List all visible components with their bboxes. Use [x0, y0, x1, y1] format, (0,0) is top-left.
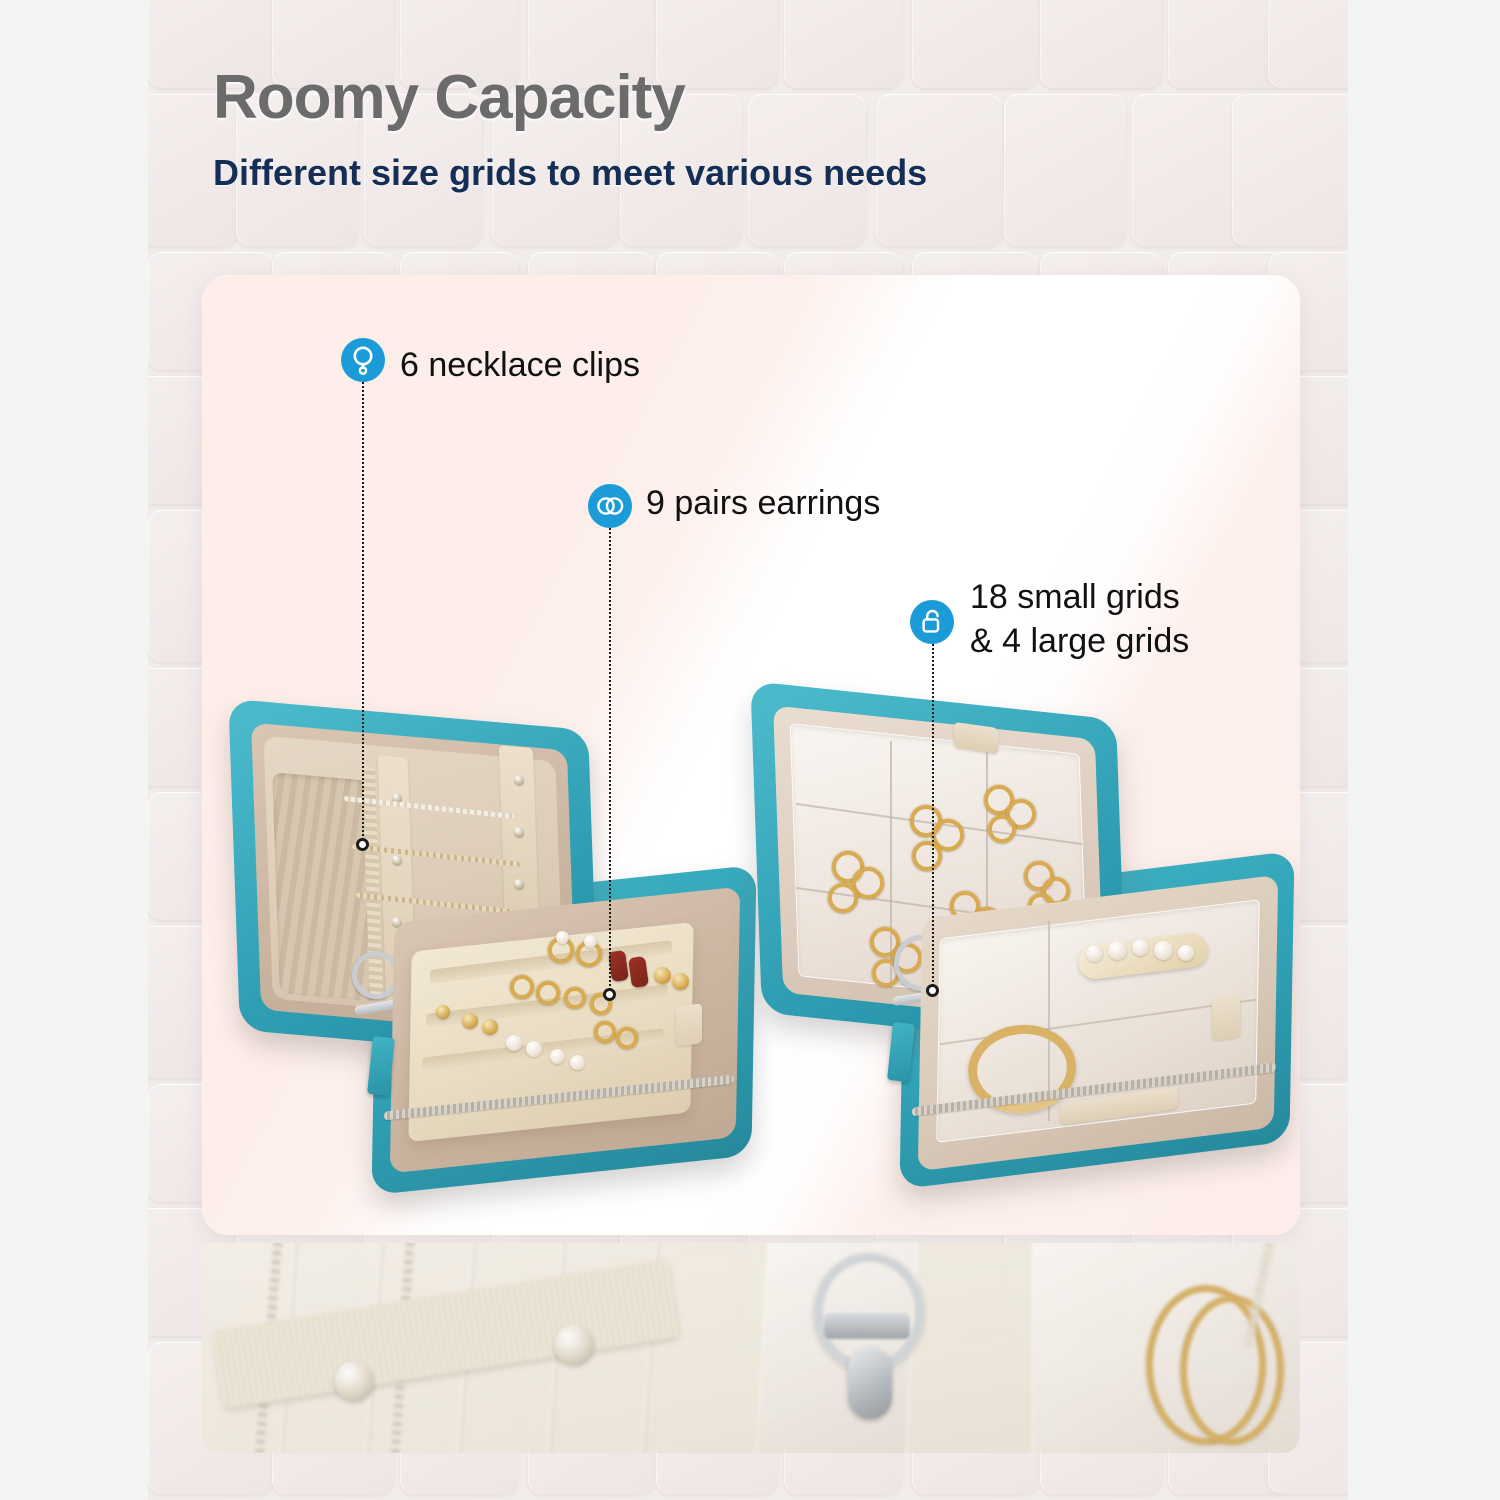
bottom-left-panel: [202, 1243, 762, 1453]
earring-pearl-6: [570, 1055, 585, 1070]
earring-stud-3: [462, 1013, 478, 1029]
clip-pearl-1: [1086, 945, 1103, 962]
binder-ring-latch: [848, 1347, 892, 1419]
background-tile: [784, 0, 902, 88]
earring-pearl-2: [584, 935, 597, 948]
earring-hoops-icon: [588, 484, 632, 528]
background-tile: [912, 0, 1038, 88]
page-title: Roomy Capacity: [213, 62, 685, 133]
earring-stud-2: [672, 973, 689, 990]
earring-pearl-1: [556, 931, 569, 944]
leader-line-grids: [932, 644, 934, 990]
leader-endpoint-necklace: [356, 838, 369, 851]
background-tile: [1268, 0, 1348, 88]
background-tile: [1004, 94, 1126, 246]
earring-stud-5: [436, 1005, 450, 1019]
earring-pearl-3: [506, 1035, 522, 1051]
callout-label-grids-line2: & 4 large grids: [970, 622, 1189, 661]
elastic-strap-detail: [213, 1260, 680, 1409]
bottom-detail-photo: [202, 1243, 1300, 1453]
content-card: [202, 275, 1300, 1235]
ring-3: [828, 883, 858, 913]
earring-hoop-4: [536, 981, 560, 1005]
clip-pearl-5: [1178, 945, 1194, 961]
leader-line-earrings: [609, 528, 611, 994]
earring-pearl-4: [526, 1041, 542, 1057]
clip-pearl-2: [1108, 941, 1127, 960]
earring-pearl-5: [550, 1049, 565, 1064]
ring-6: [912, 841, 942, 871]
earring-stud-1: [654, 967, 671, 984]
leader-line-necklace: [362, 382, 364, 844]
gold-hoop-detail-2: [1180, 1295, 1284, 1445]
necklace-clip-snap-4: [514, 774, 524, 785]
necklace-pendant-icon: [341, 338, 385, 382]
ring-9: [988, 815, 1016, 843]
clip-pearl-3: [1132, 939, 1149, 956]
earring-hoop-7: [594, 1021, 616, 1043]
callout-label-necklace: 6 necklace clips: [400, 346, 640, 385]
leader-endpoint-earrings: [603, 988, 616, 1001]
earring-hoop-3: [510, 975, 534, 999]
padlock-icon: [910, 600, 954, 644]
infographic-page: Roomy Capacity Different size grids to m…: [0, 0, 1500, 1500]
background-tile: [1040, 0, 1162, 88]
panel-tab-left: [676, 1003, 702, 1046]
leader-endpoint-grids: [926, 984, 939, 997]
product-photo-right: [742, 695, 1300, 1195]
product-photo-left: [224, 705, 764, 1195]
bottom-center-panel: [762, 1243, 1042, 1453]
necklace-clip-snap-5: [514, 826, 524, 837]
callout-label-earrings: 9 pairs earrings: [646, 484, 880, 523]
strap-snap-detail-1: [334, 1361, 374, 1401]
strap-snap-detail-2: [554, 1325, 594, 1365]
callout-label-grids-line1: 18 small grids: [970, 578, 1180, 617]
page-subtitle: Different size grids to meet various nee…: [213, 152, 927, 194]
clip-pearl-4: [1154, 941, 1173, 960]
binder-ring-plate: [824, 1313, 910, 1339]
base-strap-tab-right: [1212, 995, 1240, 1041]
earring-hoop-5: [564, 987, 586, 1009]
earring-hoop-8: [616, 1027, 638, 1049]
necklace-clip-snap-2: [392, 854, 402, 865]
background-tile: [1232, 94, 1348, 246]
earring-stud-4: [482, 1019, 498, 1035]
necklace-clip-snap-6: [514, 878, 524, 889]
bottom-right-panel: [1042, 1243, 1300, 1453]
